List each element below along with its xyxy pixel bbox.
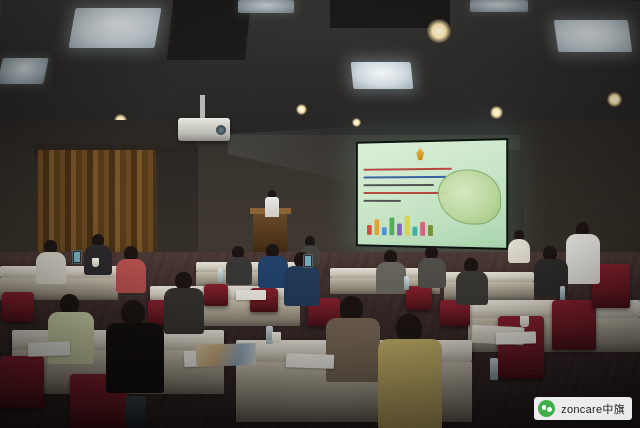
water-bottle [404,276,409,290]
attendee-torso [456,271,488,305]
water-bottle [490,358,498,380]
handout-paper [236,290,266,300]
paper-cup [520,316,529,327]
attendee-torso [36,252,66,284]
slide-chart-bar [420,222,425,236]
ceiling-downlight [490,106,503,119]
zoncare-logo-icon [538,400,555,417]
ceiling-light-panel [68,8,161,48]
ceiling-downlight [427,19,451,43]
slide-badge-icon [416,148,424,160]
slide-text-line [363,184,434,186]
brochure [196,343,257,367]
slide-chart [365,213,440,236]
speaker-presenter [265,190,279,216]
ceiling-downlight [352,118,361,127]
ceiling-light-panel [554,20,632,52]
paper-cup [92,258,99,267]
thermos-flask [126,396,146,428]
projector-lens-icon [216,125,226,135]
phone-screen [74,252,80,262]
attendee-torso [106,323,164,393]
slide-text-line [363,176,445,179]
chair [0,356,44,408]
ceiling-light-panel [351,62,414,89]
phone-screen [305,256,311,266]
chair [552,300,596,350]
chair [2,292,34,322]
conference-room-photo: zoncare中旗 [0,0,640,428]
attendee-torso [326,318,380,382]
slide-text-line [363,200,401,202]
attendee-torso [164,288,204,334]
slide-chart-bar [397,224,402,236]
attendee-torso [116,259,146,293]
attendee-torso [378,339,442,428]
water-bottle [218,268,223,282]
ceiling-downlight [296,104,307,115]
ceiling-light-panel [0,58,49,84]
chair [204,284,228,306]
attendee-torso [284,266,320,306]
slide-chart-bar [374,219,379,235]
attendee-torso [226,257,252,285]
handout-paper [496,331,536,344]
watermark-text: zoncare中旗 [561,401,625,417]
ceiling-light-panel [238,0,294,13]
chair [406,286,432,310]
water-bottle [560,286,565,300]
projector [178,118,230,141]
wall-column [0,148,34,258]
slide-text-line [363,192,447,194]
handout-paper [28,341,70,356]
watermark: zoncare中旗 [534,397,632,420]
slide-diagram-icon [438,169,501,225]
attendee-torso [48,312,94,364]
ceiling-light-panel [470,0,528,12]
projection-screen [356,138,508,250]
slide-chart-bar [405,216,410,236]
slide-chart-bar [428,225,433,236]
smartphone [72,250,82,264]
attendee-head [396,314,422,342]
slide-chart-bar [382,227,387,235]
slide-text-line [363,168,451,171]
attendee-torso [566,234,600,284]
slide-chart-bar [367,225,372,235]
wall-pier [158,146,198,262]
screen-surface [358,140,506,248]
handout-paper [286,353,334,369]
slide-chart-bar [412,227,417,236]
smartphone [303,254,313,268]
attendee-torso [508,239,530,263]
attendee-torso [418,258,446,288]
attendee-torso [376,262,406,294]
slide-chart-bar [390,218,395,236]
paper-cup [272,332,281,343]
speaker-shirt [265,197,279,217]
ceiling-downlight [607,92,622,107]
